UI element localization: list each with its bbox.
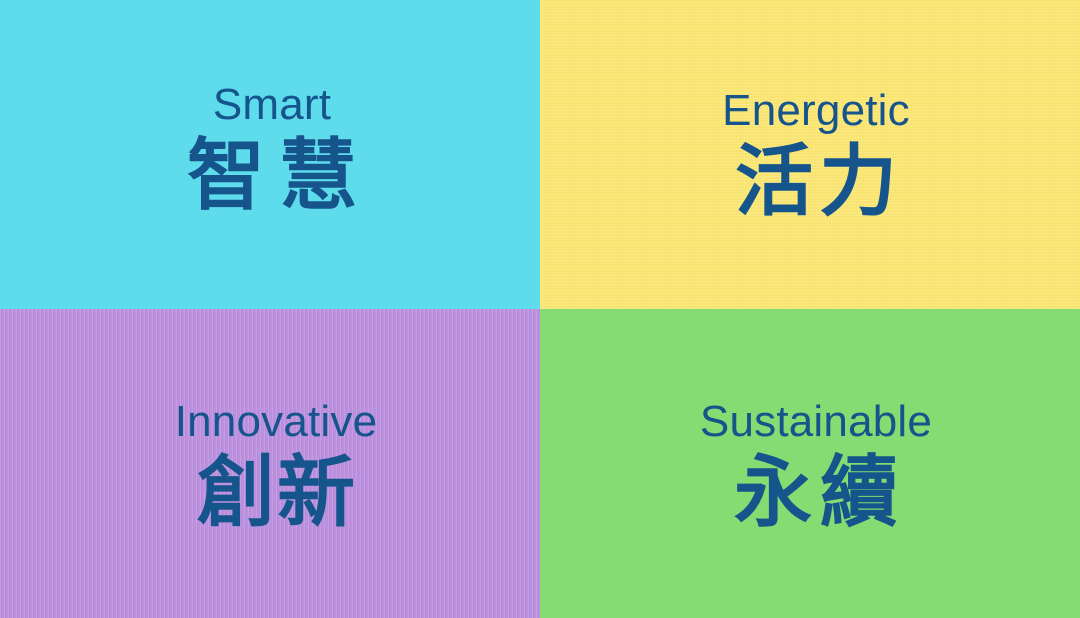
panel-innovative-content: Innovative 創新: [175, 399, 378, 537]
panel-sustainable-label-zh: 永續: [726, 449, 906, 536]
panel-sustainable-label-en: Sustainable: [700, 399, 932, 446]
panel-smart-content: Smart 智慧: [173, 82, 371, 220]
panel-smart[interactable]: Smart 智慧: [0, 0, 540, 309]
panel-energetic[interactable]: Energetic 活力: [540, 0, 1080, 309]
values-quadrant-board: Smart 智慧 Energetic 活力 Innovative 創新 Sust…: [0, 0, 1080, 618]
panel-sustainable-content: Sustainable 永續: [700, 399, 932, 537]
panel-smart-label-en: Smart: [213, 82, 331, 129]
panel-innovative[interactable]: Innovative 創新: [0, 309, 540, 618]
panel-sustainable[interactable]: Sustainable 永續: [540, 309, 1080, 618]
panel-energetic-label-en: Energetic: [722, 88, 910, 135]
panel-smart-label-zh: 智慧: [173, 132, 371, 219]
panel-innovative-label-zh: 創新: [195, 449, 357, 536]
panel-innovative-label-en: Innovative: [175, 399, 378, 446]
panel-energetic-label-zh: 活力: [729, 138, 903, 225]
panel-energetic-content: Energetic 活力: [722, 88, 910, 226]
